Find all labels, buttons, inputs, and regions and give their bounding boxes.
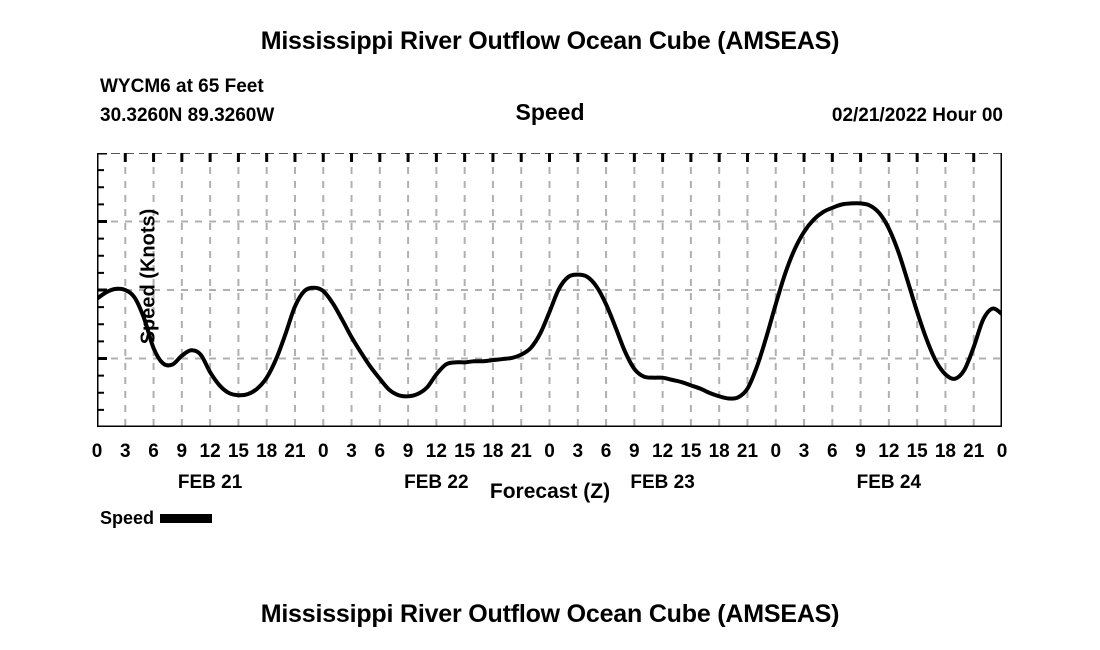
top-axis-ticks	[97, 153, 1002, 162]
page-title-top: Mississippi River Outflow Ocean Cube (AM…	[0, 27, 1100, 56]
chart-page: Mississippi River Outflow Ocean Cube (AM…	[0, 0, 1100, 650]
legend-label-speed: Speed	[100, 508, 154, 529]
page-title-bottom: Mississippi River Outflow Ocean Cube (AM…	[0, 600, 1100, 629]
plot-svg	[97, 153, 1002, 427]
plot-area: Speed (Knots) 0.000.060.120.190.25 03691…	[97, 153, 1002, 427]
x-tick-label: 0	[982, 441, 1022, 463]
station-depth-label: WYCM6 at 65 Feet	[100, 76, 264, 98]
x-axis-title: Forecast (Z)	[0, 480, 1100, 504]
legend-swatch-speed	[160, 514, 212, 523]
model-run-label: 02/21/2022 Hour 00	[832, 105, 1003, 127]
y-axis-title: Speed (Knots)	[138, 167, 161, 387]
chart-legend: Speed	[100, 508, 212, 529]
